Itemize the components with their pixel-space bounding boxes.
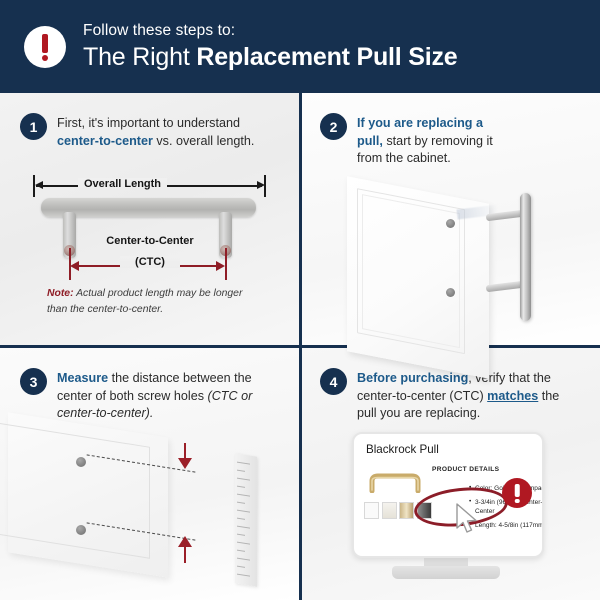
product-image-gold-pull — [366, 471, 424, 493]
ctc-label-line2: (CTC) — [120, 256, 180, 268]
overall-length-label: Overall Length — [78, 178, 167, 190]
thumbnail-3[interactable] — [399, 502, 414, 519]
step-1-text: First, it's important to understand cent… — [57, 113, 282, 150]
step-2-badge: 2 — [320, 113, 347, 140]
ctc-label-line1: Center-to-Center — [0, 235, 300, 247]
bar-pull-graphic-step2 — [520, 193, 531, 321]
measure-arrow-bottom-stem — [184, 547, 186, 563]
step-4-text: Before purchasing, verify that the cente… — [357, 368, 578, 423]
note-text: Actual product length may be longer than… — [47, 288, 242, 315]
step-2-text: If you are replacing a pull, start by re… — [357, 113, 510, 168]
screw-hole-bottom-step2 — [446, 288, 455, 297]
infographic-root: Follow these steps to: The Right Replace… — [0, 0, 600, 600]
step-4-header: 4 Before purchasing, verify that the cen… — [320, 368, 578, 423]
step-1-header: 1 First, it's important to understand ce… — [20, 113, 282, 150]
screw-hole-top-step3 — [76, 457, 86, 467]
header-kicker: Follow these steps to: — [83, 22, 458, 40]
measure-arrow-top — [178, 458, 192, 469]
screw-hole-bottom-step3 — [76, 525, 86, 535]
step-3-text-part-1: Measure — [57, 371, 108, 385]
step-4-matches-link[interactable]: matches — [487, 389, 538, 403]
step-panel-1: 1 First, it's important to understand ce… — [0, 93, 300, 346]
cabinet-door-graphic-step3 — [8, 412, 168, 577]
step-1-badge: 1 — [20, 113, 47, 140]
step-1-text-part-3: vs. overall length. — [153, 134, 255, 148]
note-label: Note: — [47, 288, 74, 299]
horizontal-divider — [0, 345, 600, 348]
cabinet-door-graphic-step2 — [347, 176, 489, 379]
step-4-text-part-1: Before purchasing — [357, 371, 468, 385]
step-3-badge: 3 — [20, 368, 47, 395]
alert-exclamation-icon — [502, 478, 532, 508]
thumbnail-2[interactable] — [382, 502, 397, 519]
title-bold-part: Replacement Pull Size — [196, 43, 457, 71]
step-1-note: Note: Actual product length may be longe… — [47, 286, 262, 317]
title-light-part: The Right — [83, 43, 196, 71]
measure-arrow-bottom — [178, 536, 192, 547]
step-3-header: 3 Measure the distance between the cente… — [20, 368, 270, 423]
mouse-cursor-icon — [455, 503, 481, 540]
header-text-block: Follow these steps to: The Right Replace… — [83, 22, 458, 72]
measure-arrow-top-stem — [184, 443, 186, 459]
product-title: Blackrock Pull — [366, 443, 439, 456]
monitor-stand-base — [392, 566, 500, 579]
ruler-graphic — [235, 453, 257, 586]
step-3-text: Measure the distance between the center … — [57, 368, 270, 423]
step-2-header: 2 If you are replacing a pull, start by … — [320, 113, 510, 168]
header-banner: Follow these steps to: The Right Replace… — [0, 0, 600, 93]
step-1-text-part-1: First, it's important to understand — [57, 116, 240, 130]
step-1-text-part-2: center-to-center — [57, 134, 153, 148]
step-4-badge: 4 — [320, 368, 347, 395]
page-title: The Right Replacement Pull Size — [83, 43, 458, 72]
screw-hole-top-step2 — [446, 219, 455, 228]
product-details-heading: PRODUCT DETAILS — [432, 466, 499, 473]
exclamation-icon — [24, 26, 66, 68]
thumbnail-1[interactable] — [364, 502, 379, 519]
